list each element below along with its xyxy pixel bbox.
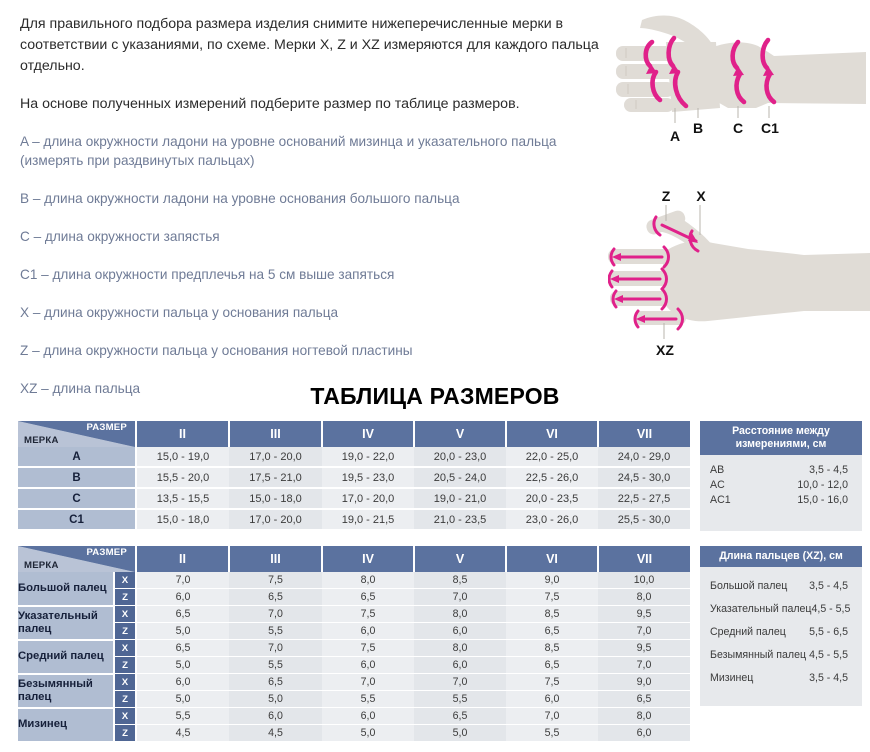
intro-paragraph-1: Для правильного подбора размера изделия … (20, 14, 610, 77)
table2-cell: 6,5 (229, 674, 322, 691)
sub-row-key-x: X (114, 606, 136, 623)
list-item: Указательный палец 4,5 - 5,5 (710, 598, 852, 621)
table1-cell: 15,0 - 19,0 (136, 447, 229, 467)
table2-cell: 6,5 (229, 589, 322, 606)
table2-cell: 9,5 (598, 606, 690, 623)
sub-row-key-z: Z (114, 623, 136, 640)
table1-cell: 23,0 - 26,0 (506, 509, 598, 530)
table2-cell: 5,5 (506, 725, 598, 742)
sub-row-key-x: X (114, 572, 136, 589)
table-row: Указательный палец X 6,5 7,0 7,5 8,0 8,5… (18, 606, 690, 623)
table2-cell: 5,5 (229, 623, 322, 640)
table1-cell: 24,5 - 30,0 (598, 467, 690, 488)
definition-c1: C1 – длина окружности предплечья на 5 см… (20, 265, 610, 284)
side1-key: AB (710, 463, 724, 478)
table1-cell: 20,0 - 23,0 (414, 447, 506, 467)
finger-label-index: Указательный палец (18, 606, 114, 640)
table1-cell: 17,0 - 20,0 (322, 488, 414, 509)
table2-cell: 6,0 (414, 623, 506, 640)
table2-cell: 8,0 (598, 708, 690, 725)
side2-key: Средний палец (710, 621, 786, 644)
table-row: Z 5,0 5,5 6,0 6,0 6,5 7,0 (18, 657, 690, 674)
table2-cell: 8,0 (598, 589, 690, 606)
table2-cell: 4,5 (229, 725, 322, 742)
label-a: A (670, 128, 680, 144)
table1-cell: 17,5 - 21,0 (229, 467, 322, 488)
table2-cell: 7,0 (322, 674, 414, 691)
table-row: C1 15,0 - 18,0 17,0 - 20,0 19,0 - 21,5 2… (18, 509, 690, 530)
side2-title: Длина пальцев (XZ), см (700, 546, 862, 567)
intro-text-block: Для правильного подбора размера изделия … (20, 14, 610, 417)
sub-row-key-x: X (114, 674, 136, 691)
table2-cell: 6,0 (322, 623, 414, 640)
table2-cell: 6,5 (506, 623, 598, 640)
table2-cell: 5,0 (136, 691, 229, 708)
table2-cell: 8,0 (414, 640, 506, 657)
table-row: Z 6,0 6,5 6,5 7,0 7,5 8,0 (18, 589, 690, 606)
side1-title: Расстояние между измерениями, см (700, 421, 862, 455)
intro-paragraph-2: На основе полученных измерений подберите… (20, 94, 610, 115)
label-b: B (693, 120, 703, 136)
table2-cell: 9,0 (506, 572, 598, 589)
table2-cell: 5,5 (136, 708, 229, 725)
table2-cell: 7,0 (229, 606, 322, 623)
sub-row-key-x: X (114, 708, 136, 725)
table1-col-vi: VI (506, 421, 598, 447)
side2-key: Мизинец (710, 667, 753, 690)
table1-col-v: V (414, 421, 506, 447)
table2-cell: 7,0 (598, 657, 690, 674)
table2-cell: 6,0 (506, 691, 598, 708)
table-row: Безымянный палец X 6,0 6,5 7,0 7,0 7,5 9… (18, 674, 690, 691)
table1-header-row: МЕРКА РАЗМЕР II III IV V VI VII (18, 421, 690, 447)
table1-col-ii: II (136, 421, 229, 447)
table2-cell: 7,5 (229, 572, 322, 589)
table2-cell: 5,5 (229, 657, 322, 674)
definition-a: A – длина окружности ладони на уровне ос… (20, 132, 610, 170)
finger-label-ring: Безымянный палец (18, 674, 114, 708)
sub-row-key-z: Z (114, 589, 136, 606)
finger-label-middle: Средний палец (18, 640, 114, 674)
table1-row-label-c1: C1 (18, 509, 136, 530)
table1-cell: 19,0 - 21,0 (414, 488, 506, 509)
finger-label-thumb: Большой палец (18, 572, 114, 606)
table1-cell: 21,0 - 23,5 (414, 509, 506, 530)
list-item: Мизинец 3,5 - 4,5 (710, 667, 852, 690)
table-row: A 15,0 - 19,0 17,0 - 20,0 19,0 - 22,0 20… (18, 447, 690, 467)
size-table-main: МЕРКА РАЗМЕР II III IV V VI VII A 15,0 -… (18, 421, 690, 531)
table2-cell: 8,0 (322, 572, 414, 589)
page-title: ТАБЛИЦА РАЗМЕРОВ (0, 383, 870, 410)
hand-silhouette-2 (608, 209, 870, 325)
table2-cell: 5,0 (322, 725, 414, 742)
list-item: Большой палец 3,5 - 4,5 (710, 575, 852, 598)
table2-cell: 6,5 (322, 589, 414, 606)
table2-cell: 8,5 (506, 640, 598, 657)
table2-cell: 5,0 (414, 725, 506, 742)
corner-col-label: РАЗМЕР (87, 547, 127, 558)
table2-cell: 7,0 (414, 674, 506, 691)
table2-cell: 5,0 (136, 657, 229, 674)
label-z: Z (662, 188, 671, 204)
table1-cell: 15,0 - 18,0 (229, 488, 322, 509)
table-row: Z 4,5 4,5 5,0 5,0 5,5 6,0 (18, 725, 690, 742)
table2-cell: 6,5 (136, 640, 229, 657)
table2-col-v: V (414, 546, 506, 572)
table2-cell: 4,5 (136, 725, 229, 742)
table2-col-vi: VI (506, 546, 598, 572)
label-xz: XZ (656, 342, 674, 358)
side1-value: 10,0 - 12,0 (797, 478, 852, 493)
table2-corner-cell: МЕРКА РАЗМЕР (18, 546, 136, 572)
side1-value: 15,0 - 16,0 (797, 493, 852, 508)
table1-cell: 13,5 - 15,5 (136, 488, 229, 509)
table1-cell: 15,0 - 18,0 (136, 509, 229, 530)
side2-value: 3,5 - 4,5 (809, 575, 852, 598)
side1-value: 3,5 - 4,5 (809, 463, 852, 478)
sub-row-key-z: Z (114, 691, 136, 708)
table2-cell: 7,0 (136, 572, 229, 589)
size-table-fingers: МЕРКА РАЗМЕР II III IV V VI VII Большой … (18, 546, 690, 743)
table1-cell: 24,0 - 29,0 (598, 447, 690, 467)
table2-cell: 6,0 (598, 725, 690, 742)
table2-cell: 7,0 (506, 708, 598, 725)
side2-key: Безымянный палец (710, 644, 806, 667)
label-x: X (696, 188, 706, 204)
corner-col-label: РАЗМЕР (87, 422, 127, 433)
side1-key: AC (710, 478, 725, 493)
table1-col-iii: III (229, 421, 322, 447)
diagram-labels-abc: A B C C1 (670, 120, 779, 144)
table1-cell: 15,5 - 20,0 (136, 467, 229, 488)
table2-cell: 5,5 (322, 691, 414, 708)
table1-cell: 17,0 - 20,0 (229, 447, 322, 467)
definition-z: Z – длина окружности пальца у основания … (20, 341, 610, 360)
table2-col-iii: III (229, 546, 322, 572)
table2-cell: 8,5 (414, 572, 506, 589)
side2-value: 3,5 - 4,5 (809, 667, 852, 690)
table1-row-label-b: B (18, 467, 136, 488)
table1-cell: 20,5 - 24,0 (414, 467, 506, 488)
list-item: AC 10,0 - 12,0 (710, 478, 852, 493)
table1-cell: 19,5 - 23,0 (322, 467, 414, 488)
hand-diagram-abc: A B C C1 (616, 8, 866, 158)
table1-cell: 19,0 - 22,0 (322, 447, 414, 467)
table2-cell: 7,0 (414, 589, 506, 606)
table2-cell: 8,5 (506, 606, 598, 623)
table2-col-ii: II (136, 546, 229, 572)
finger-label-little: Мизинец (18, 708, 114, 742)
sub-row-key-z: Z (114, 725, 136, 742)
table2-col-iv: IV (322, 546, 414, 572)
side2-value: 4,5 - 5,5 (809, 644, 852, 667)
table2-cell: 6,0 (414, 657, 506, 674)
table2-cell: 7,5 (322, 640, 414, 657)
sub-row-key-x: X (114, 640, 136, 657)
side2-key: Большой палец (710, 575, 787, 598)
corner-row-label: МЕРКА (24, 435, 59, 446)
table2-cell: 6,5 (414, 708, 506, 725)
table1-cell: 22,0 - 25,0 (506, 447, 598, 467)
table2-cell: 8,0 (414, 606, 506, 623)
table1-col-vii: VII (598, 421, 690, 447)
table2-cell: 9,0 (598, 674, 690, 691)
table2-cell: 5,5 (414, 691, 506, 708)
table-row: Средний палец X 6,5 7,0 7,5 8,0 8,5 9,5 (18, 640, 690, 657)
table-row: B 15,5 - 20,0 17,5 - 21,0 19,5 - 23,0 20… (18, 467, 690, 488)
definition-c: C – длина окружности запястья (20, 227, 610, 246)
table1-row-label-a: A (18, 447, 136, 467)
table-row: Z 5,0 5,5 6,0 6,0 6,5 7,0 (18, 623, 690, 640)
definition-x: X – длина окружности пальца у основания … (20, 303, 610, 322)
table1-cell: 25,5 - 30,0 (598, 509, 690, 530)
label-c1: C1 (761, 120, 779, 136)
table1-cell: 20,0 - 23,5 (506, 488, 598, 509)
table2-cell: 6,0 (322, 708, 414, 725)
table2-cell: 6,5 (136, 606, 229, 623)
table2-cell: 7,0 (598, 623, 690, 640)
side2-value: 4,5 - 5,5 (811, 598, 854, 621)
table2-cell: 6,5 (598, 691, 690, 708)
side2-value: 5,5 - 6,5 (809, 621, 852, 644)
list-item: AC1 15,0 - 16,0 (710, 493, 852, 508)
side2-key: Указательный палец (710, 598, 811, 621)
table2-cell: 6,0 (136, 589, 229, 606)
table2-cell: 7,5 (322, 606, 414, 623)
side1-key: AC1 (710, 493, 731, 508)
table2-cell: 7,5 (506, 589, 598, 606)
table2-header-row: МЕРКА РАЗМЕР II III IV V VI VII (18, 546, 690, 572)
table-row: Мизинец X 5,5 6,0 6,0 6,5 7,0 8,0 (18, 708, 690, 725)
table1-corner-cell: МЕРКА РАЗМЕР (18, 421, 136, 447)
table-row: C 13,5 - 15,5 15,0 - 18,0 17,0 - 20,0 19… (18, 488, 690, 509)
table1-col-iv: IV (322, 421, 414, 447)
table2-cell: 5,0 (136, 623, 229, 640)
hand-diagram-xz: Z X XZ (608, 183, 870, 358)
list-item: Безымянный палец 4,5 - 5,5 (710, 644, 852, 667)
table2-cell: 6,0 (136, 674, 229, 691)
table2-cell: 6,0 (229, 708, 322, 725)
definition-b: B – длина окружности ладони на уровне ос… (20, 189, 610, 208)
table2-cell: 7,5 (506, 674, 598, 691)
table2-cell: 5,0 (229, 691, 322, 708)
sub-row-key-z: Z (114, 657, 136, 674)
table1-cell: 19,0 - 21,5 (322, 509, 414, 530)
corner-row-label: МЕРКА (24, 560, 59, 571)
table2-cell: 7,0 (229, 640, 322, 657)
side1-body: AB 3,5 - 4,5 AC 10,0 - 12,0 AC1 15,0 - 1… (700, 455, 862, 508)
table2-col-vii: VII (598, 546, 690, 572)
table1-cell: 22,5 - 26,0 (506, 467, 598, 488)
table1-cell: 17,0 - 20,0 (229, 509, 322, 530)
table-row: Z 5,0 5,0 5,5 5,5 6,0 6,5 (18, 691, 690, 708)
distance-between-measurements-panel: Расстояние между измерениями, см AB 3,5 … (700, 421, 862, 531)
table1-cell: 22,5 - 27,5 (598, 488, 690, 509)
label-c: C (733, 120, 743, 136)
finger-length-panel: Длина пальцев (XZ), см Большой палец 3,5… (700, 546, 862, 706)
table2-cell: 10,0 (598, 572, 690, 589)
side2-body: Большой палец 3,5 - 4,5 Указательный пал… (700, 567, 862, 690)
table-row: Большой палец X 7,0 7,5 8,0 8,5 9,0 10,0 (18, 572, 690, 589)
table1-row-label-c: C (18, 488, 136, 509)
table2-cell: 6,0 (322, 657, 414, 674)
list-item: Средний палец 5,5 - 6,5 (710, 621, 852, 644)
list-item: AB 3,5 - 4,5 (710, 463, 852, 478)
table2-cell: 9,5 (598, 640, 690, 657)
table2-cell: 6,5 (506, 657, 598, 674)
